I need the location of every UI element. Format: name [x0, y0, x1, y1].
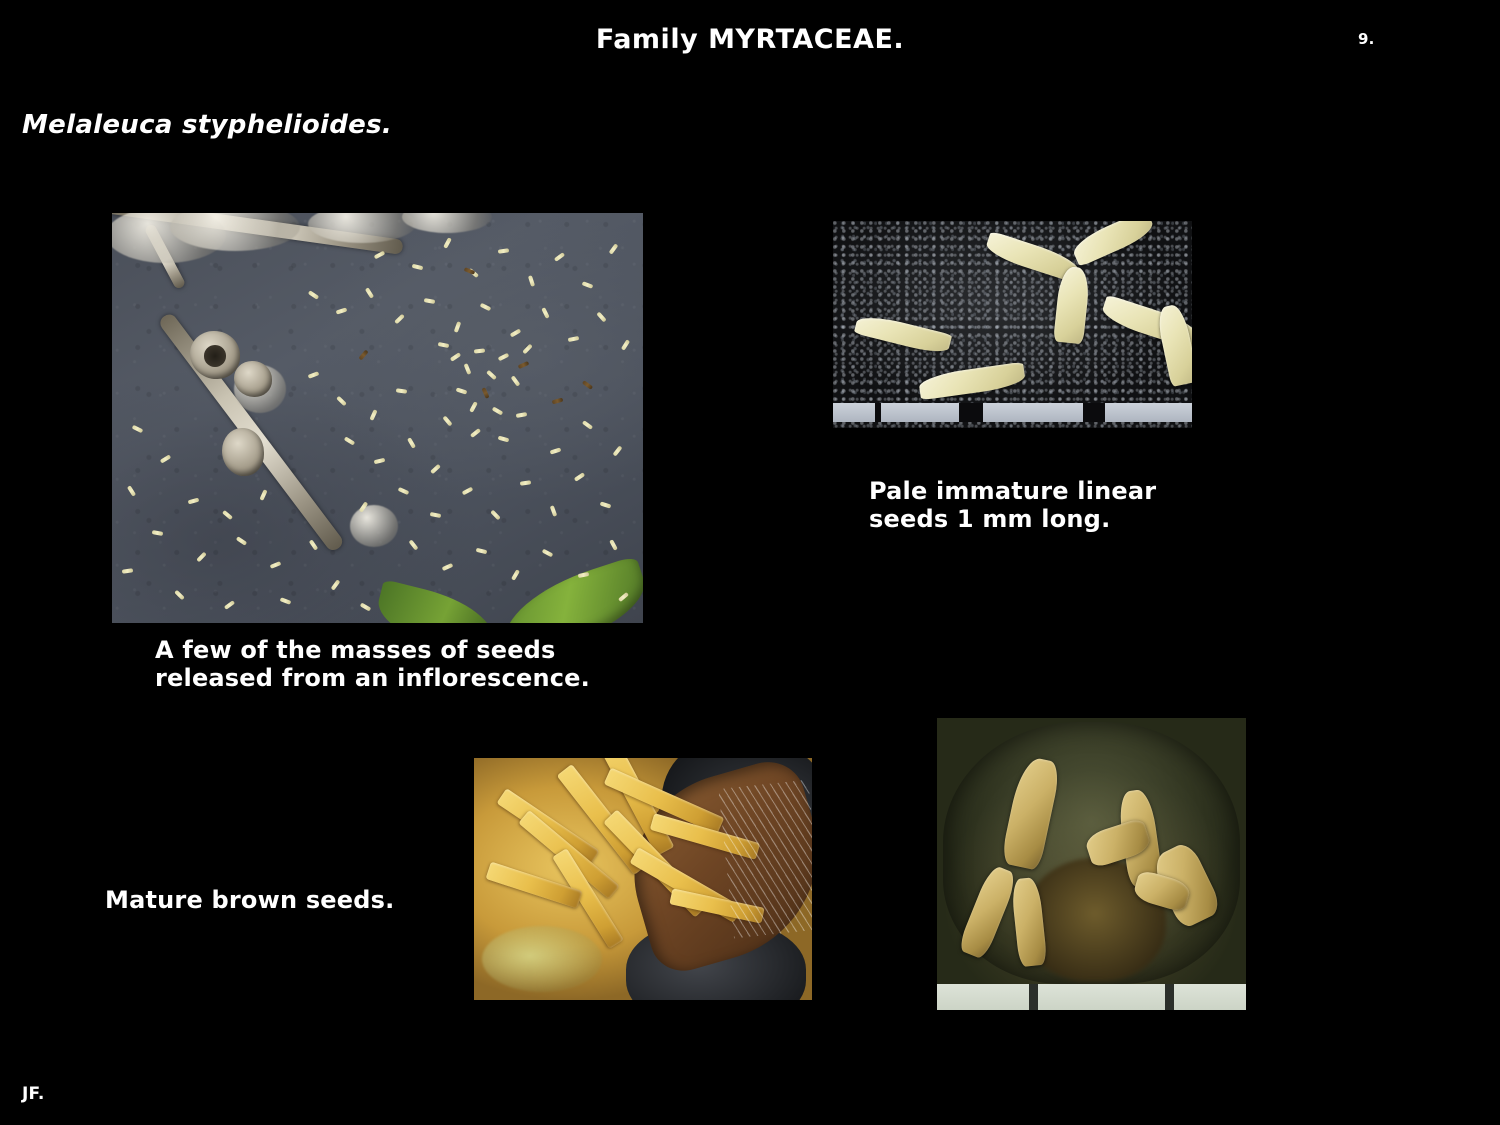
photo-seeds-released-from-inflorescence: [112, 213, 643, 623]
caption-pale-immature-seeds: Pale immature linear seeds 1 mm long.: [869, 477, 1156, 533]
lichen-patch: [482, 926, 602, 992]
species-name: Melaleuca styphelioides.: [22, 110, 392, 140]
presentation-slide: Family MYRTACEAE. 9. Melaleuca styphelio…: [0, 0, 1500, 1125]
seed-capsule: [222, 428, 264, 476]
seed-capsule: [234, 361, 272, 397]
white-fibres: [718, 780, 812, 939]
author-initials: JF.: [22, 1084, 45, 1104]
caption-mature-brown-seeds: Mature brown seeds.: [105, 886, 394, 914]
seed-capsule: [190, 331, 240, 379]
page-title: Family MYRTACEAE.: [0, 24, 1500, 55]
scale-bar: [833, 403, 1192, 422]
capsule-pore: [204, 345, 226, 366]
page-number: 9.: [1358, 30, 1375, 48]
bract-fluff: [350, 505, 398, 547]
photo-seeds-inside-capsule: [937, 718, 1246, 1010]
slate-texture: [112, 213, 643, 623]
caption-seeds-released: A few of the masses of seeds released fr…: [155, 636, 590, 692]
photo-pale-immature-linear-seeds: [833, 221, 1192, 428]
photo-mature-brown-seeds: [474, 758, 812, 1000]
scale-strip: [937, 984, 1246, 1010]
